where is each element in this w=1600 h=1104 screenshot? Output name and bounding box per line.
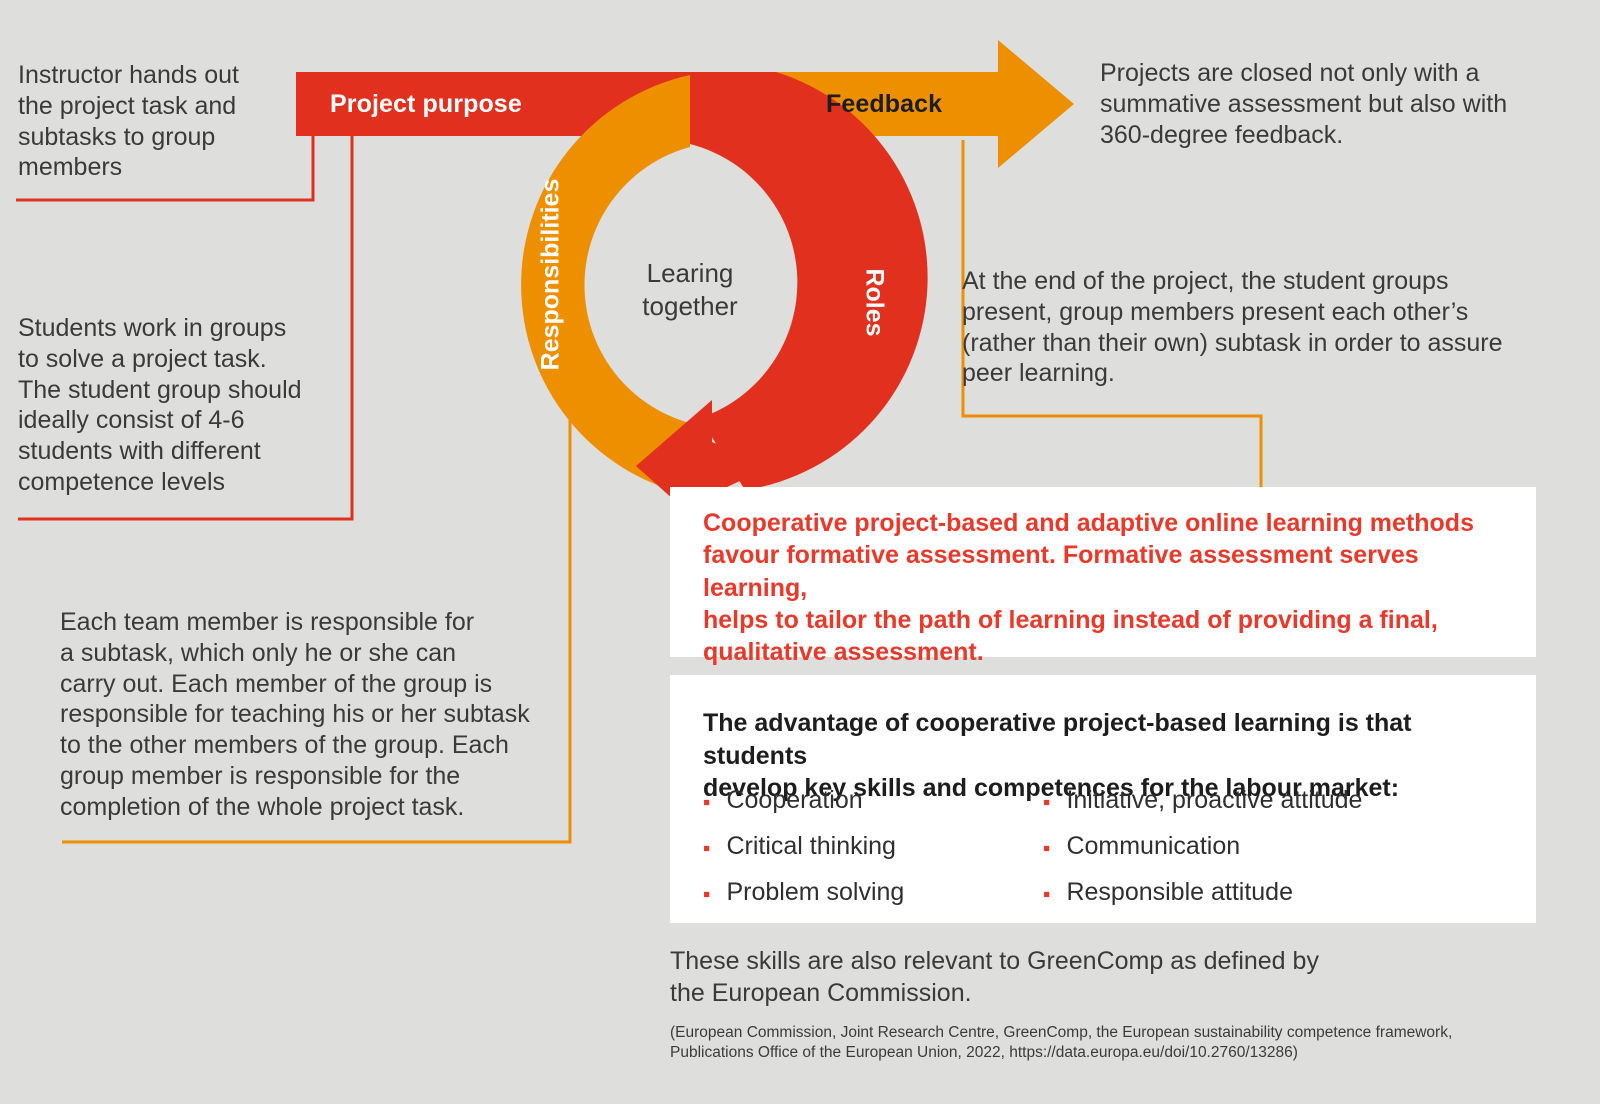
bullet-dot-icon: ▪ xyxy=(1043,792,1050,813)
note-at-the-end: At the end of the project, the student g… xyxy=(962,266,1522,389)
skills-columns: ▪ Cooperation ▪ Critical thinking ▪ Prob… xyxy=(703,786,1513,924)
skill-label: Problem solving xyxy=(726,878,904,907)
list-item: ▪ Responsible attitude xyxy=(1043,878,1513,907)
bullet-dot-icon: ▪ xyxy=(1043,884,1050,905)
band-label-project-purpose: Project purpose xyxy=(330,90,522,119)
note-each-member: Each team member is responsible for a su… xyxy=(60,607,560,822)
bullet-dot-icon: ▪ xyxy=(703,792,710,813)
band-label-feedback: Feedback xyxy=(826,90,942,119)
bullet-dot-icon: ▪ xyxy=(703,884,710,905)
skills-column-right: ▪ Initiative, proactive attitude ▪ Commu… xyxy=(1043,786,1513,924)
bullet-dot-icon: ▪ xyxy=(1043,838,1050,859)
list-item: ▪ Communication xyxy=(1043,832,1513,861)
ring-label-responsibilities: Responsibilities xyxy=(536,179,565,371)
note-projects-closed: Projects are closed not only with a summ… xyxy=(1100,58,1540,150)
list-item: ▪ Initiative, proactive attitude xyxy=(1043,786,1513,815)
skill-label: Responsible attitude xyxy=(1066,878,1293,907)
list-item: ▪ Problem solving xyxy=(703,878,1043,907)
note-instructor: Instructor hands out the project task an… xyxy=(18,60,318,183)
bullet-dot-icon: ▪ xyxy=(703,838,710,859)
footer: These skills are also relevant to GreenC… xyxy=(670,945,1510,1064)
skill-label: Critical thinking xyxy=(726,832,896,861)
note-students: Students work in groups to solve a proje… xyxy=(18,313,348,498)
list-item: ▪ Cooperation xyxy=(703,786,1043,815)
diagram-canvas: Project purpose Feedback Responsibilitie… xyxy=(0,0,1600,1104)
footer-citation: (European Commission, Joint Research Cen… xyxy=(670,1023,1510,1064)
ring-label-roles: Roles xyxy=(860,268,889,336)
list-item: ▪ Critical thinking xyxy=(703,832,1043,861)
formative-assessment-text: Cooperative project-based and adaptive o… xyxy=(703,507,1503,668)
center-label: Learing together xyxy=(600,257,780,324)
skill-label: Cooperation xyxy=(726,786,862,815)
skills-column-left: ▪ Cooperation ▪ Critical thinking ▪ Prob… xyxy=(703,786,1043,924)
skill-label: Initiative, proactive attitude xyxy=(1066,786,1362,815)
footer-main-text: These skills are also relevant to GreenC… xyxy=(670,945,1510,1009)
skill-label: Communication xyxy=(1066,832,1240,861)
